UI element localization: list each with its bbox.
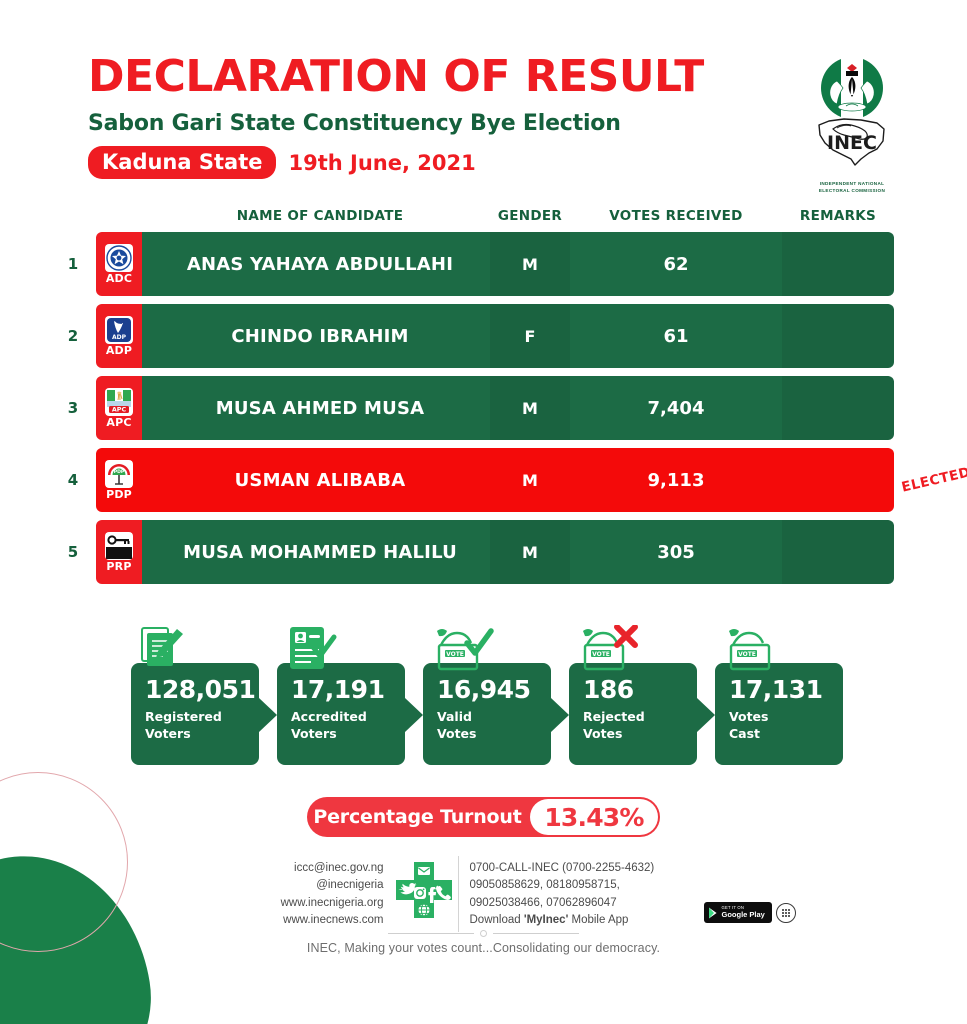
svg-text:VOTE: VOTE: [446, 651, 464, 658]
party-abbreviation: ADP: [106, 345, 132, 356]
votes-received: 61: [570, 304, 782, 368]
ballot-box-check-icon: VOTE: [431, 625, 495, 671]
svg-text:ADP: ADP: [112, 334, 127, 341]
gplay-large-text: Google Play: [722, 911, 765, 919]
state-date-row: Kaduna State 19th June, 2021: [88, 146, 704, 179]
tagline-divider: [0, 930, 967, 937]
stat-label: AccreditedVoters: [291, 709, 405, 743]
column-header-name: NAME OF CANDIDATE: [150, 208, 490, 224]
column-header-gender: GENDER: [490, 208, 570, 224]
row-number: 3: [60, 376, 86, 440]
turnout-value: 13.43%: [530, 799, 658, 835]
party-logo-pdp-icon: PDP: [105, 460, 133, 488]
remarks-cell: [782, 304, 894, 368]
remarks-cell: [782, 376, 894, 440]
row-body: MUSA AHMED MUSAM7,404: [142, 376, 894, 440]
party-logo-adc-icon: [105, 244, 133, 272]
divider-line-right: [493, 933, 579, 934]
results-table-header: NAME OF CANDIDATE GENDER VOTES RECEIVED …: [0, 208, 967, 230]
page-header: DECLARATION OF RESULT Sabon Gari State C…: [88, 55, 704, 179]
svg-text:VOTE: VOTE: [738, 651, 756, 658]
remarks-cell: [782, 448, 894, 512]
pdp-party-logo: PDP: [106, 461, 132, 487]
blackberry-world-badge[interactable]: [776, 903, 796, 923]
footer-contact-line: www.inecnews.com: [234, 912, 384, 929]
stat-value: 16,945: [437, 677, 551, 702]
stat-card: VOTE16,945ValidVotes: [423, 663, 551, 765]
documents-pen-icon: [139, 625, 203, 671]
candidate-gender: F: [490, 304, 570, 368]
stat-card: VOTE186RejectedVotes: [569, 663, 697, 765]
stat-value: 17,191: [291, 677, 405, 702]
party-abbreviation: APC: [106, 417, 131, 428]
election-date: 19th June, 2021: [288, 151, 475, 175]
ballot-box-check-icon: VOTE: [431, 625, 495, 671]
candidate-name: CHINDO IBRAHIM: [150, 304, 490, 368]
inec-logo-caption: INDEPENDENT NATIONALELECTORAL COMMISSION: [789, 181, 915, 195]
stat-card: 17,191AccreditedVoters: [277, 663, 405, 765]
divider-line-left: [388, 933, 474, 934]
flow-chevron-icon: [259, 698, 281, 732]
candidate-gender: M: [490, 520, 570, 584]
row-number: 2: [60, 304, 86, 368]
row-body: USMAN ALIBABAM9,113: [142, 448, 894, 512]
turnout-label: Percentage Turnout: [307, 797, 528, 837]
phone-numbers-line1: 09050858629, 08180958715,: [470, 877, 734, 894]
tagline-text: INEC, Making your votes count...Consolid…: [0, 941, 967, 955]
footer-contact-line: iccc@inec.gov.ng: [234, 860, 384, 877]
candidate-name: MUSA AHMED MUSA: [150, 376, 490, 440]
party-logo-prp-icon: [105, 532, 133, 560]
documents-pen-icon: [139, 625, 203, 671]
votes-received: 62: [570, 232, 782, 296]
column-header-votes: VOTES RECEIVED: [570, 208, 782, 224]
state-badge: Kaduna State: [88, 146, 276, 179]
ballot-box-icon: VOTE: [723, 625, 787, 671]
party-logo-adp-icon: ADP: [105, 316, 133, 344]
instagram-icon: [414, 887, 426, 899]
stat-value: 17,131: [729, 677, 843, 702]
google-play-icon: [708, 907, 719, 919]
party-cell-pdp: PDPPDP: [96, 448, 142, 512]
stat-value: 186: [583, 677, 697, 702]
results-table-body: 1ADCANAS YAHAYA ABDULLAHIM622ADPADPCHIND…: [0, 232, 967, 592]
infographic-page: DECLARATION OF RESULT Sabon Gari State C…: [0, 0, 967, 1024]
ballot-box-cross-icon: VOTE: [577, 625, 641, 671]
ballot-box-cross-icon: VOTE: [577, 625, 641, 671]
download-prefix: Download: [470, 914, 524, 926]
adp-party-logo: ADP: [106, 317, 132, 343]
stat-card: 128,051RegisteredVoters: [131, 663, 259, 765]
table-row: 4PDPPDPUSMAN ALIBABAM9,113ELECTED: [0, 448, 967, 512]
stat-card: VOTE17,131VotesCast: [715, 663, 843, 765]
inec-acronym: INEC: [827, 132, 877, 154]
app-store-badges: GET IT ON Google Play: [704, 902, 796, 923]
prp-party-logo: [106, 533, 132, 559]
row-body: ANAS YAHAYA ABDULLAHIM62: [142, 232, 894, 296]
svg-text:VOTE: VOTE: [592, 651, 610, 658]
flow-chevron-icon: [697, 698, 719, 732]
party-cell-apc: APCAPC: [96, 376, 142, 440]
elected-stamp: ELECTED: [897, 445, 967, 515]
party-cell-adc: ADC: [96, 232, 142, 296]
id-card-check-icon: [285, 625, 349, 671]
adc-party-logo: [106, 245, 132, 271]
percentage-turnout-banner: Percentage Turnout 13.43%: [307, 797, 660, 837]
candidate-gender: M: [490, 448, 570, 512]
inec-logo: INEC INDEPENDENT NATIONALELECTORAL COMMI…: [789, 55, 915, 195]
page-title: DECLARATION OF RESULT: [88, 55, 704, 99]
inec-logo-graphic: INEC: [789, 55, 915, 173]
candidate-name: USMAN ALIBABA: [150, 448, 490, 512]
party-abbreviation: ADC: [106, 273, 132, 284]
candidate-gender: M: [490, 376, 570, 440]
candidate-name: ANAS YAHAYA ABDULLAHI: [150, 232, 490, 296]
footer-contact-left: iccc@inec.gov.ng@inecnigeriawww.inecnige…: [234, 858, 384, 930]
blackberry-icon: [780, 907, 792, 919]
table-row: 2ADPADPCHINDO IBRAHIMF61: [0, 304, 967, 368]
stat-label: VotesCast: [729, 709, 843, 743]
google-play-badge[interactable]: GET IT ON Google Play: [704, 902, 772, 923]
ballot-box-icon: VOTE: [723, 625, 787, 671]
footer-divider: [458, 856, 459, 932]
social-icon-cluster: [388, 858, 460, 930]
party-cell-prp: PRP: [96, 520, 142, 584]
divider-dot: [480, 930, 487, 937]
call-center-number: 0700-CALL-INEC (0700-2255-4632): [470, 860, 734, 877]
id-card-check-icon: [285, 625, 349, 671]
stat-label: ValidVotes: [437, 709, 551, 743]
stat-value: 128,051: [145, 677, 259, 702]
phone-numbers-line2: 09025038466, 07062896047: [470, 895, 734, 912]
app-name: 'MyInec': [524, 914, 568, 926]
candidate-name: MUSA MOHAMMED HALILU: [150, 520, 490, 584]
row-number: 5: [60, 520, 86, 584]
download-suffix: Mobile App: [568, 914, 628, 926]
row-number: 1: [60, 232, 86, 296]
remarks-cell: [782, 520, 894, 584]
vote-statistics-strip: 128,051RegisteredVoters17,191AccreditedV…: [0, 620, 967, 765]
page-footer: iccc@inec.gov.ng@inecnigeriawww.inecnige…: [0, 858, 967, 930]
candidate-gender: M: [490, 232, 570, 296]
votes-received: 9,113: [570, 448, 782, 512]
remarks-cell: [782, 232, 894, 296]
party-logo-apc-icon: APC: [105, 388, 133, 416]
table-row: 3APCAPCMUSA AHMED MUSAM7,404: [0, 376, 967, 440]
table-row: 1ADCANAS YAHAYA ABDULLAHIM62: [0, 232, 967, 296]
party-abbreviation: PRP: [106, 561, 131, 572]
stat-label: RejectedVotes: [583, 709, 697, 743]
votes-received: 7,404: [570, 376, 782, 440]
tagline-section: INEC, Making your votes count...Consolid…: [0, 930, 967, 955]
page-subtitle: Sabon Gari State Constituency Bye Electi…: [88, 111, 704, 136]
flow-chevron-icon: [405, 698, 427, 732]
email-icon: [418, 867, 430, 875]
party-abbreviation: PDP: [106, 489, 132, 500]
flow-chevron-icon: [551, 698, 573, 732]
svg-text:PDP: PDP: [114, 469, 125, 475]
row-body: MUSA MOHAMMED HALILUM305: [142, 520, 894, 584]
stat-label: RegisteredVoters: [145, 709, 259, 743]
footer-contact-line: www.inecnigeria.org: [234, 895, 384, 912]
apc-party-logo: APC: [106, 389, 132, 415]
mobile-app-line: Download 'MyInec' Mobile App: [470, 912, 734, 929]
column-header-remarks: REMARKS: [782, 208, 894, 224]
party-cell-adp: ADPADP: [96, 304, 142, 368]
row-body: CHINDO IBRAHIMF61: [142, 304, 894, 368]
svg-text:APC: APC: [112, 406, 127, 414]
row-number: 4: [60, 448, 86, 512]
footer-contact-line: @inecnigeria: [234, 877, 384, 894]
website-globe-icon: [418, 904, 430, 916]
table-row: 5PRPMUSA MOHAMMED HALILUM305: [0, 520, 967, 584]
votes-received: 305: [570, 520, 782, 584]
footer-contact-right: 0700-CALL-INEC (0700-2255-4632) 09050858…: [464, 858, 734, 930]
